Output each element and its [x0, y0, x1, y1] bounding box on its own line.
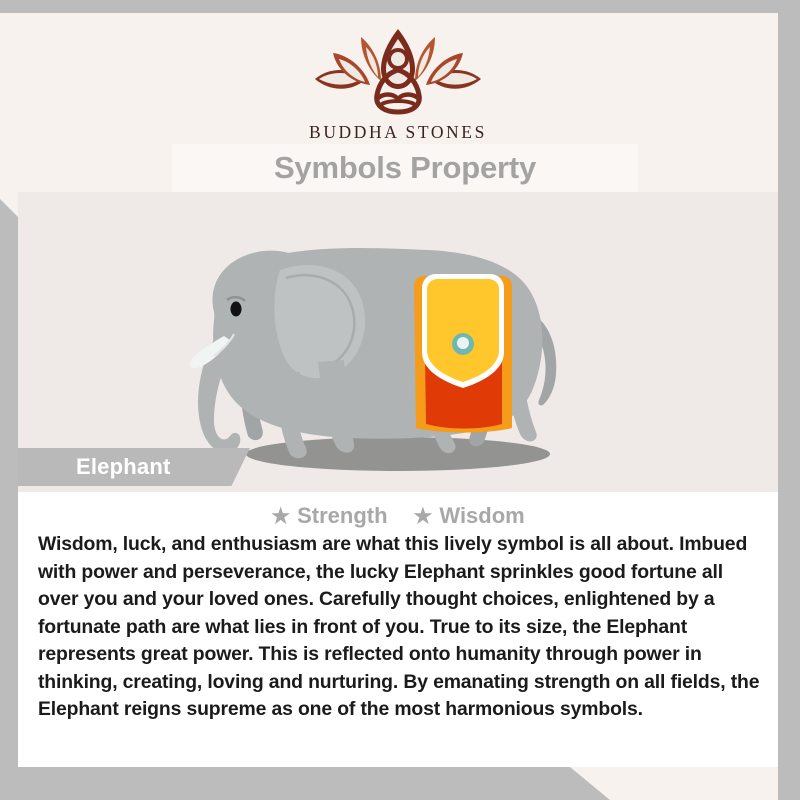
property-strength: ★ Strength	[271, 503, 387, 529]
lotus-meditation-figure-logo-icon	[303, 27, 493, 120]
page-title-band: Symbols Property	[172, 144, 638, 192]
star-icon: ★	[271, 506, 290, 527]
page-title: Symbols Property	[274, 150, 536, 186]
property-strength-label: Strength	[297, 503, 387, 529]
symbol-description-text: Wisdom, luck, and enthusiasm are what th…	[18, 531, 778, 724]
infographic-page: BUDDHA STONES Symbols Property	[0, 0, 800, 800]
top-frame-bar	[0, 0, 800, 13]
symbol-description-panel: ★ Strength ★ Wisdom Wisdom, luck, and en…	[18, 492, 778, 767]
brand-name: BUDDHA STONES	[309, 122, 487, 143]
symbol-name-ribbon: Elephant	[18, 448, 250, 486]
left-frame-bar	[0, 199, 18, 800]
symbol-name: Elephant	[76, 454, 171, 480]
property-wisdom: ★ Wisdom	[414, 503, 525, 529]
symbol-properties: ★ Strength ★ Wisdom	[18, 492, 778, 529]
right-frame-bar	[778, 0, 800, 800]
brand-logo: BUDDHA STONES	[18, 13, 778, 144]
brand-header: BUDDHA STONES	[18, 13, 778, 144]
bottom-frame-bar	[0, 767, 640, 800]
symbol-illustration-stage	[18, 192, 778, 492]
property-wisdom-label: Wisdom	[439, 503, 524, 529]
star-icon: ★	[414, 506, 433, 527]
